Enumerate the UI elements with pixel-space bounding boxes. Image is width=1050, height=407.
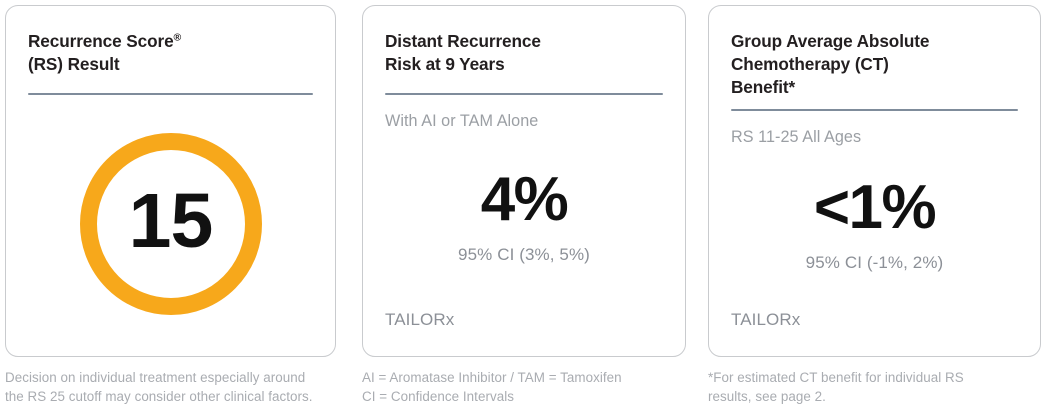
card-recurrence-score: Recurrence Score®(RS) Result 15 xyxy=(5,5,336,357)
source-label-chemotherapy-benefit: TAILORx xyxy=(731,310,1018,356)
card-divider xyxy=(385,93,663,96)
card-title-recurrence-score: Recurrence Score®(RS) Result xyxy=(28,30,313,76)
column-recurrence-score: Recurrence Score®(RS) Result 15 Decision… xyxy=(5,5,336,407)
column-chemotherapy-benefit: Group Average Absolute Chemotherapy (CT)… xyxy=(686,5,1041,407)
distant-recurrence-risk-confidence-interval: 95% CI (3%, 5%) xyxy=(458,245,590,265)
footnote-chemotherapy-benefit: *For estimated CT benefit for individual… xyxy=(708,368,1041,407)
card-title-distant-recurrence-risk: Distant Recurrence Risk at 9 Years xyxy=(385,30,663,76)
card-title-line2: (RS) Result xyxy=(28,54,120,74)
footnote-distant-recurrence-risk: AI = Aromatase Inhibitor / TAM = Tamoxif… xyxy=(362,368,686,407)
registered-trademark-icon: ® xyxy=(174,31,182,43)
chemotherapy-benefit-confidence-interval: 95% CI (-1%, 2%) xyxy=(806,253,944,273)
card-chemotherapy-benefit: Group Average Absolute Chemotherapy (CT)… xyxy=(708,5,1041,357)
column-distant-recurrence-risk: Distant Recurrence Risk at 9 Years With … xyxy=(336,5,686,407)
score-ring-wrapper: 15 xyxy=(80,133,262,315)
card-title-chemotherapy-benefit: Group Average Absolute Chemotherapy (CT)… xyxy=(731,30,1018,99)
card-divider xyxy=(731,109,1018,112)
stat-block-distant-recurrence-risk: 4% 95% CI (3%, 5%) xyxy=(385,124,663,310)
distant-recurrence-risk-value: 4% xyxy=(481,169,568,231)
recurrence-score-value: 15 xyxy=(80,133,262,315)
result-summary-board: Recurrence Score®(RS) Result 15 Decision… xyxy=(0,0,1050,407)
chemotherapy-benefit-value: <1% xyxy=(814,177,935,239)
card-distant-recurrence-risk: Distant Recurrence Risk at 9 Years With … xyxy=(362,5,686,357)
footnote-recurrence-score: Decision on individual treatment especia… xyxy=(5,368,336,407)
recurrence-score-display: 15 xyxy=(28,95,313,356)
source-label-distant-recurrence-risk: TAILORx xyxy=(385,310,663,356)
card-title-line1: Recurrence Score xyxy=(28,31,174,51)
stat-block-chemotherapy-benefit: <1% 95% CI (-1%, 2%) xyxy=(731,140,1018,310)
